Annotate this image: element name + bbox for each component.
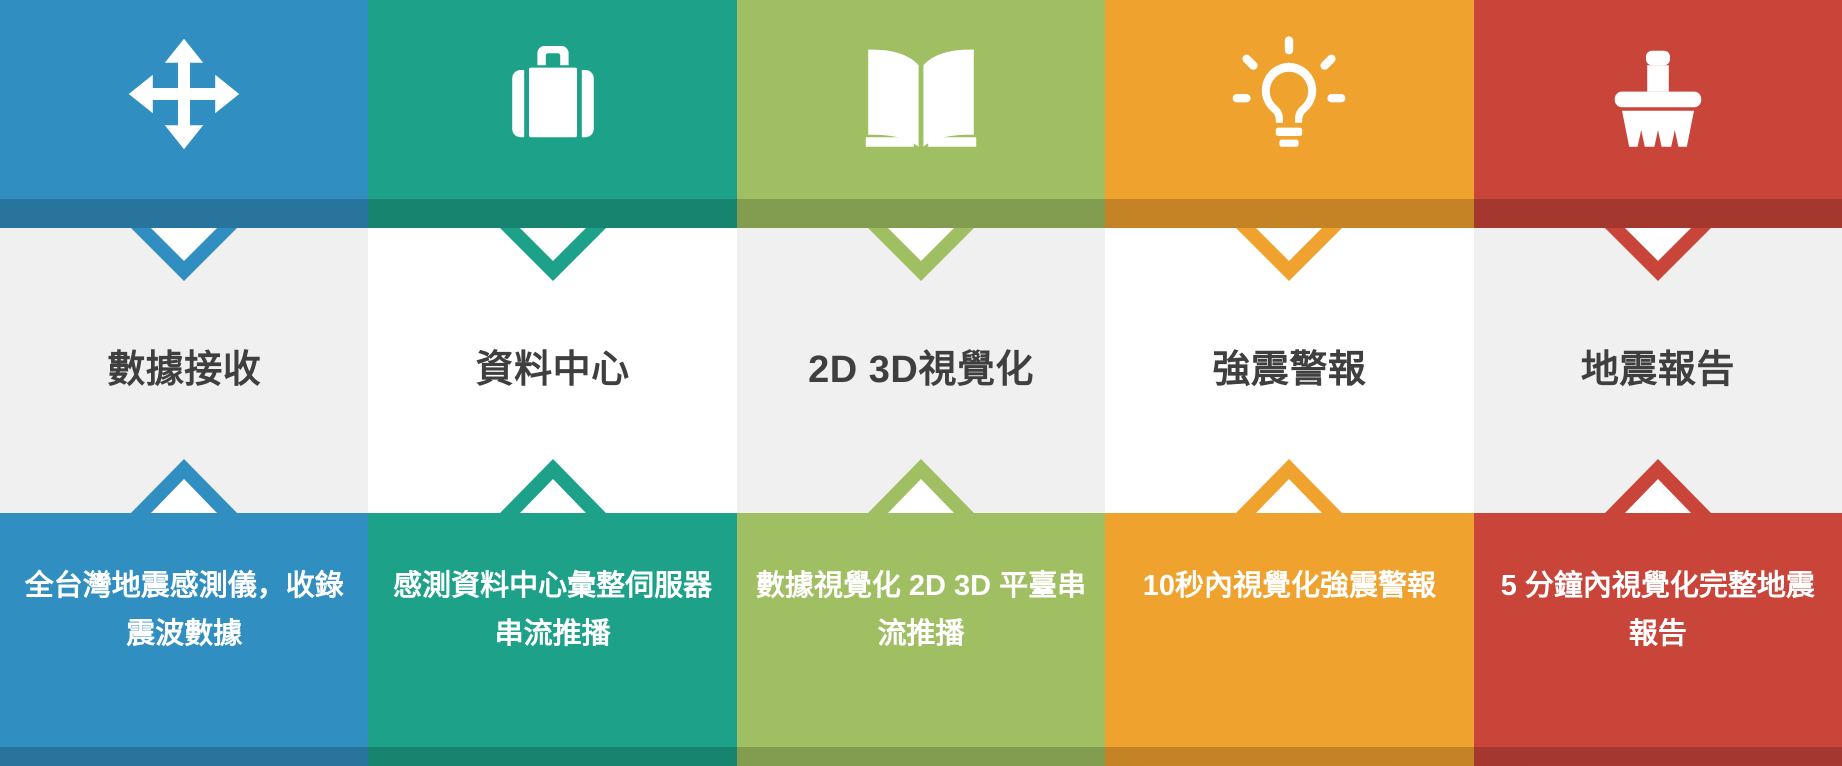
open-book-icon	[861, 34, 981, 154]
step-description: 10秒內視覺化強震警報	[1129, 563, 1450, 611]
up-arrow-strong-quake-alert-icon	[1236, 459, 1342, 513]
down-arrow-strong-quake-alert-icon	[1236, 228, 1342, 281]
down-arrow-data-center-icon	[500, 228, 606, 281]
column-strong-quake-alert: 強震警報10秒內視覺化強震警報	[1105, 0, 1473, 766]
column-data-center: 資料中心感測資料中心彙整伺服器串流推播	[368, 0, 736, 766]
description-panel-shade	[1105, 747, 1473, 766]
icon-panel-shade	[0, 199, 368, 228]
step-title: 地震報告	[1571, 348, 1745, 394]
column-visualization-2d-3d: 2D 3D視覺化數據視覺化 2D 3D 平臺串流推播	[737, 0, 1105, 766]
down-arrow-visualization-2d-3d-icon	[868, 228, 974, 281]
icon-panel-shade	[737, 199, 1105, 228]
icon-panel-visualization-2d-3d	[737, 0, 1105, 228]
step-description: 全台灣地震感測儀，收錄震波數據	[0, 563, 368, 659]
down-arrow-data-reception-icon	[131, 228, 237, 281]
icon-panel-data-center	[368, 0, 736, 228]
icon-panel-strong-quake-alert	[1105, 0, 1473, 228]
step-title: 數據接收	[97, 348, 271, 394]
briefcase-icon	[493, 34, 613, 154]
description-panel-shade	[737, 747, 1105, 766]
description-panel-shade	[0, 747, 368, 766]
up-arrow-earthquake-report-icon	[1605, 459, 1711, 513]
lightbulb-icon	[1229, 34, 1349, 154]
paint-brush-icon	[1598, 34, 1718, 154]
icon-panel-shade	[368, 199, 736, 228]
move-arrows-icon	[124, 34, 244, 154]
step-title: 資料中心	[466, 348, 640, 394]
title-panel-visualization-2d-3d: 2D 3D視覺化	[737, 228, 1105, 513]
step-title: 強震警報	[1202, 348, 1376, 394]
up-arrow-visualization-2d-3d-icon	[868, 459, 974, 513]
up-arrow-data-reception-icon	[131, 459, 237, 513]
icon-panel-shade	[1474, 199, 1842, 228]
title-panel-data-reception: 數據接收	[0, 228, 368, 513]
down-arrow-earthquake-report-icon	[1605, 228, 1711, 281]
step-title: 2D 3D視覺化	[798, 348, 1044, 394]
description-panel-strong-quake-alert: 10秒內視覺化強震警報	[1105, 513, 1473, 766]
column-earthquake-report: 地震報告5 分鐘內視覺化完整地震報告	[1474, 0, 1842, 766]
step-description: 5 分鐘內視覺化完整地震報告	[1474, 563, 1842, 659]
description-panel-earthquake-report: 5 分鐘內視覺化完整地震報告	[1474, 513, 1842, 766]
step-description: 感測資料中心彙整伺服器串流推播	[369, 563, 737, 659]
step-description: 數據視覺化 2D 3D 平臺串流推播	[737, 563, 1105, 659]
title-panel-data-center: 資料中心	[368, 228, 736, 513]
description-panel-visualization-2d-3d: 數據視覺化 2D 3D 平臺串流推播	[737, 513, 1105, 766]
column-data-reception: 數據接收全台灣地震感測儀，收錄震波數據	[0, 0, 368, 766]
title-panel-earthquake-report: 地震報告	[1474, 228, 1842, 513]
description-panel-shade	[1474, 747, 1842, 766]
title-panel-strong-quake-alert: 強震警報	[1105, 228, 1473, 513]
description-panel-data-reception: 全台灣地震感測儀，收錄震波數據	[0, 513, 368, 766]
description-panel-data-center: 感測資料中心彙整伺服器串流推播	[368, 513, 736, 766]
icon-panel-shade	[1105, 199, 1473, 228]
process-infographic: 數據接收全台灣地震感測儀，收錄震波數據資料中心感測資料中心彙整伺服器串流推播2D…	[0, 0, 1842, 766]
icon-panel-data-reception	[0, 0, 368, 228]
icon-panel-earthquake-report	[1474, 0, 1842, 228]
description-panel-shade	[368, 747, 736, 766]
up-arrow-data-center-icon	[500, 459, 606, 513]
